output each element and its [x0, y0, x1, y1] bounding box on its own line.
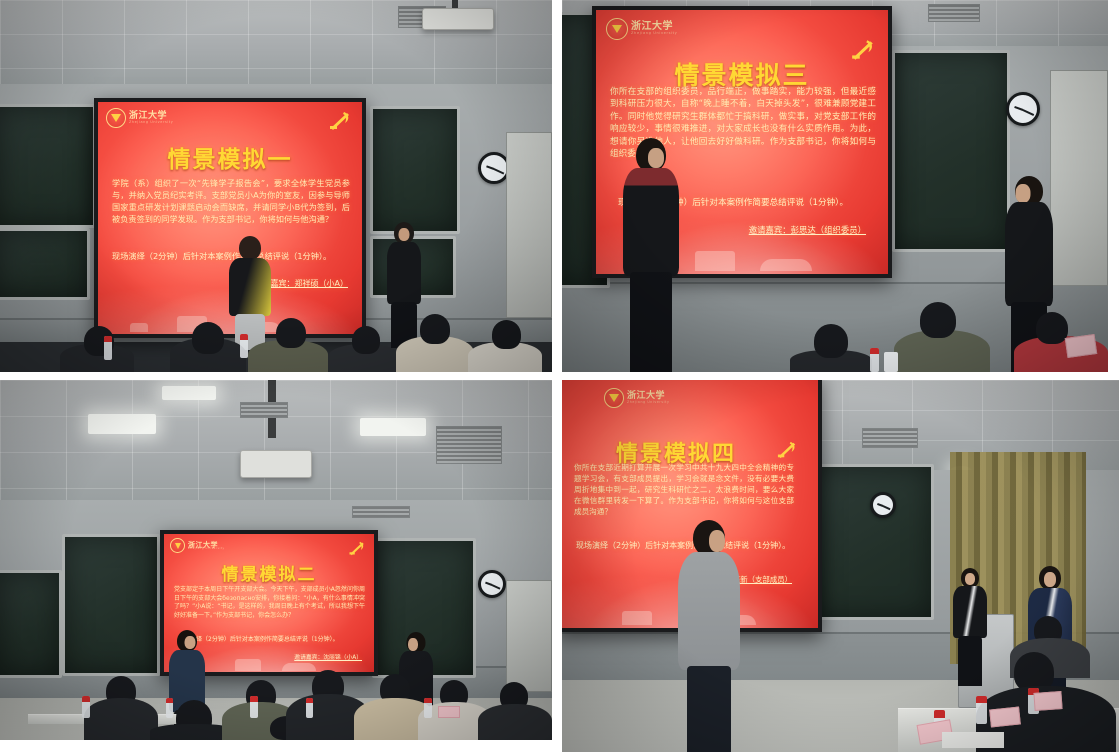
person-face [965, 573, 975, 585]
side-cabinet [506, 580, 552, 692]
zju-seal-icon [604, 388, 624, 408]
score-sheet [942, 732, 1004, 748]
artwork-shape [282, 663, 316, 671]
cpc-hammer-sickle-icon [776, 440, 798, 460]
ceiling-light [162, 386, 216, 400]
photo-panel-top-left: 浙江大学 Zhejiang University 情景模拟一 学院（系）组织了一… [0, 0, 552, 372]
person-student-presenter [674, 520, 744, 752]
nametag [1065, 334, 1097, 358]
zju-logo: 浙江大学 Zhejiang University [606, 18, 677, 40]
side-door [1050, 70, 1108, 286]
nametag [438, 706, 460, 718]
audience-head [920, 302, 956, 338]
person-legs [687, 666, 731, 752]
ac-vent [928, 4, 980, 22]
zju-name-en: Zhejiang University [188, 548, 225, 551]
audience-head [420, 314, 450, 344]
person-torso [1005, 202, 1053, 306]
person-face [1044, 572, 1056, 587]
person-torso [229, 258, 271, 316]
cpc-hammer-sickle-icon [328, 110, 352, 132]
air-conditioner [436, 426, 502, 464]
zju-eagle-mark [609, 394, 619, 402]
ac-vent [240, 402, 288, 418]
ac-vent [862, 428, 918, 448]
photo-collage: 浙江大学 Zhejiang University 情景模拟一 学院（系）组织了一… [0, 0, 1119, 752]
water-bottle [976, 696, 987, 724]
ceiling-projector [240, 450, 312, 478]
photo-panel-top-right: 浙江大学 Zhejiang University 情景模拟三 你所在支部的组织委… [562, 0, 1108, 372]
classroom-scene: 浙江大学 Zhejiang University 情景模拟一 学院（系）组织了一… [0, 0, 552, 372]
audience-head [492, 320, 521, 349]
slide-title: 情景模拟一 [98, 140, 362, 174]
person-student-presenter [226, 236, 274, 348]
paper-cup [884, 352, 898, 372]
nametag [989, 706, 1021, 727]
slide-body-text: 党支部定于本周日下午开支部大会。今天下午，支部成员小A忽然问你周日下午的支部大会… [174, 586, 365, 621]
person-legs [630, 272, 672, 372]
photo-panel-bottom-left: 浙江大学 Zhejiang University 情景模拟二 党支部定于本周日下… [0, 380, 552, 740]
zju-logo: 浙江大学 Zhejiang University [170, 538, 225, 553]
zju-wordmark: 浙江大学 Zhejiang University [129, 112, 173, 124]
person-face [1016, 184, 1031, 203]
zju-wordmark: 浙江大学 Zhejiang University [631, 22, 677, 36]
water-bottle [240, 334, 248, 358]
person-torso [387, 242, 421, 304]
zju-logo: 浙江大学 Zhejiang University [604, 388, 669, 408]
blackboard-right [810, 464, 934, 620]
blackboard-left-lower [0, 228, 90, 300]
person-student-left [618, 138, 684, 372]
blackboard-left [0, 104, 96, 228]
water-bottle [82, 696, 90, 718]
person-face [184, 636, 195, 649]
audience-head [814, 324, 848, 358]
person-face [408, 638, 418, 651]
audience-head [352, 326, 380, 354]
zju-seal-icon [106, 108, 126, 128]
water-bottle [250, 696, 258, 718]
person-head [239, 236, 261, 260]
ceiling-light [88, 414, 156, 434]
slide-body-text: 你所在支部近期打算开展一次学习中共十九大四中全会精神的专题学习会，有支部成员提出… [574, 462, 794, 517]
ceiling-air-vent [352, 506, 410, 518]
zju-name-en: Zhejiang University [631, 32, 677, 36]
artwork-shape [695, 251, 735, 271]
audience-head [1036, 312, 1068, 344]
blackboard-right [892, 50, 1010, 252]
person-face [648, 148, 664, 168]
ceiling-light [360, 418, 426, 436]
person-facilitator [384, 222, 424, 348]
blackboard-far-left [0, 570, 62, 678]
slide-body-text: 学院（系）组织了一次“先锋学子报告会”，要求全体学生党员参与，并纳入党员纪实考评… [112, 178, 350, 226]
zju-seal-icon [606, 18, 628, 40]
person-legs [958, 636, 982, 686]
zju-eagle-mark [612, 25, 622, 33]
person-torso [953, 586, 987, 638]
person-face [399, 228, 410, 241]
zju-wordmark: 浙江大学 Zhejiang University [627, 392, 669, 404]
audience-head [192, 322, 224, 354]
zju-eagle-mark [175, 543, 181, 549]
classroom-scene: 浙江大学 Zhejiang University 情景模拟三 你所在支部的组织委… [562, 0, 1108, 372]
person-host [950, 568, 990, 686]
classroom-scene: 浙江大学 Zhejiang University 情景模拟四 你所在支部近期打算… [562, 380, 1119, 752]
zju-name-en: Zhejiang University [129, 121, 173, 124]
wall-clock [478, 570, 506, 598]
water-bottle [870, 348, 879, 372]
person-face [709, 530, 725, 552]
classroom-scene: 浙江大学 Zhejiang University 情景模拟二 党支部定于本周日下… [0, 380, 552, 740]
zju-seal-icon [170, 538, 185, 553]
water-bottle [424, 698, 432, 718]
photo-panel-bottom-right: 浙江大学 Zhejiang University 情景模拟四 你所在支部近期打算… [562, 380, 1119, 752]
artwork-shape [235, 659, 261, 671]
artwork-shape [622, 611, 652, 625]
water-bottle [104, 336, 112, 360]
wall-clock [1006, 92, 1040, 126]
wall-clock [870, 492, 896, 518]
slide-note-text: 现场演绎（2分钟）后针对本案例作简要总结评说（1分钟）。 [112, 250, 331, 262]
ceiling-projector [422, 8, 494, 30]
blackboard-right [370, 106, 460, 234]
water-bottle [166, 698, 173, 718]
artwork-shape [760, 259, 812, 271]
audience-shoulder [84, 698, 158, 740]
zju-wordmark: 浙江大学 Zhejiang University [188, 541, 225, 551]
cpc-hammer-sickle-icon [348, 540, 366, 557]
audience-head [276, 318, 306, 348]
audience-shoulder [478, 704, 552, 740]
side-door [506, 132, 552, 318]
artwork-shape [130, 323, 148, 332]
slide-title: 情景模拟二 [164, 560, 374, 585]
person-torso [623, 168, 679, 276]
nametag [1033, 691, 1062, 711]
water-bottle [306, 698, 313, 718]
zju-logo: 浙江大学 Zhejiang University [106, 108, 173, 128]
zju-name-en: Zhejiang University [627, 401, 669, 404]
zju-eagle-mark [111, 114, 121, 122]
person-torso [678, 552, 740, 670]
blackboard-left [62, 534, 160, 676]
